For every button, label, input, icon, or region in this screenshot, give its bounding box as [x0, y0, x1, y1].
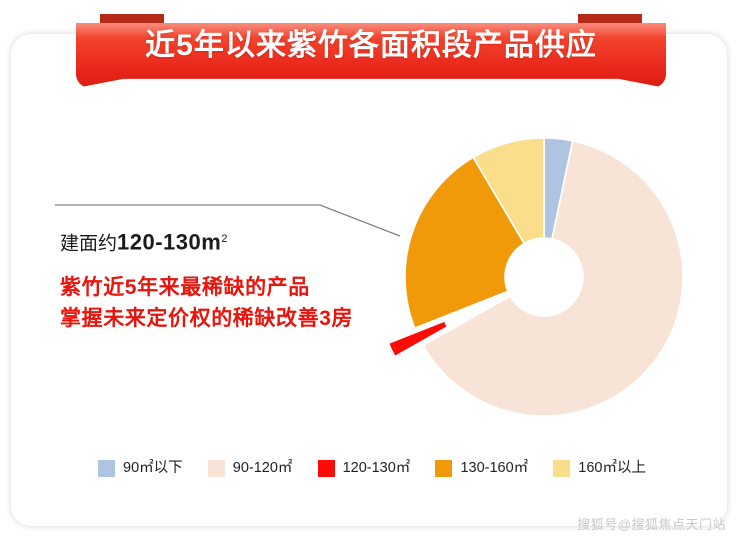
- chart-legend: 90㎡以下 90-120㎡ 120-130㎡ 130-160㎡ 160㎡以上: [98, 455, 646, 481]
- legend-label: 120-130㎡: [343, 460, 411, 477]
- legend-item[interactable]: 90㎡以下: [98, 460, 183, 477]
- callout-heading-value: 120-130: [117, 229, 201, 254]
- legend-swatch-icon: [318, 460, 335, 477]
- title-ribbon: 近5年以来紫竹各面积段产品供应: [76, 14, 666, 88]
- donut-chart: [383, 117, 705, 439]
- infographic-canvas: 近5年以来紫竹各面积段产品供应 建面约120-130m2 紫竹近5年来最稀缺的产…: [0, 0, 740, 537]
- page-title: 近5年以来紫竹各面积段产品供应: [76, 26, 666, 66]
- legend-item[interactable]: 160㎡以上: [553, 460, 646, 477]
- legend-swatch-icon: [208, 460, 225, 477]
- legend-label: 90㎡以下: [123, 460, 183, 477]
- legend-item[interactable]: 90-120㎡: [208, 460, 293, 477]
- legend-label: 160㎡以上: [578, 460, 646, 477]
- legend-label: 130-160㎡: [460, 460, 528, 477]
- callout-heading-unit-sup: 2: [221, 233, 227, 245]
- legend-item[interactable]: 120-130㎡: [318, 460, 411, 477]
- legend-label: 90-120㎡: [233, 460, 293, 477]
- legend-item[interactable]: 130-160㎡: [435, 460, 528, 477]
- watermark: 搜狐号@搜狐焦点天门站: [577, 514, 726, 533]
- legend-swatch-icon: [98, 460, 115, 477]
- legend-swatch-icon: [553, 460, 570, 477]
- callout-heading-unit: m: [201, 229, 221, 254]
- legend-swatch-icon: [435, 460, 452, 477]
- callout-heading-prefix: 建面约: [60, 233, 117, 254]
